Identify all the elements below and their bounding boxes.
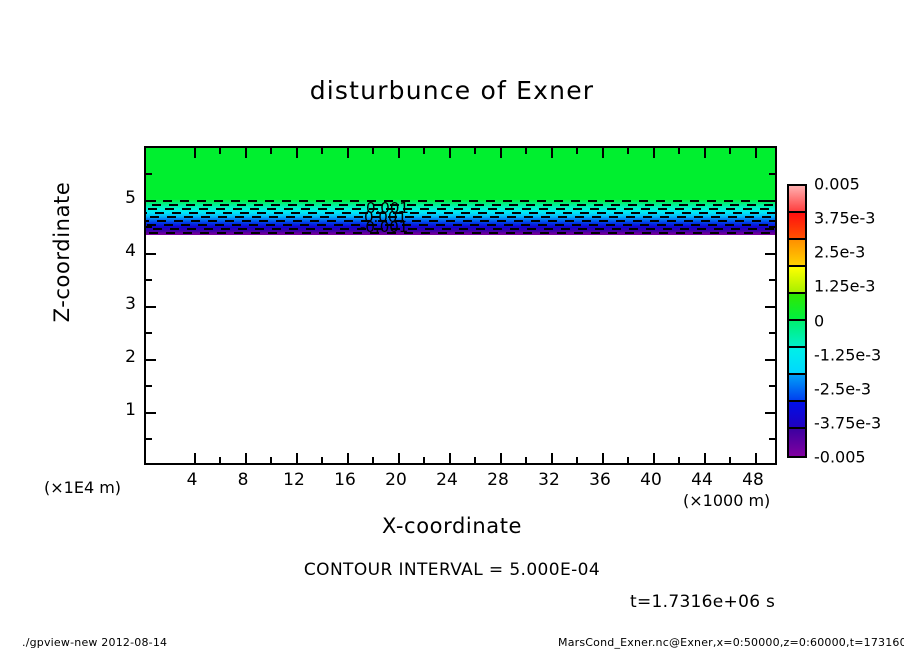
colorbar-tick-label: 1.25e-3 (814, 277, 875, 296)
x-tick-top-major (296, 148, 298, 158)
x-axis-unit-label: (×1000 m) (683, 491, 770, 510)
colorbar-tick-label: -2.5e-3 (814, 380, 871, 399)
x-tick-top-minor (219, 148, 221, 154)
x-tick-label: 12 (283, 470, 305, 490)
x-tick-label: 28 (487, 470, 509, 490)
x-tick-minor (678, 457, 680, 463)
x-tick-top-major (500, 148, 502, 158)
x-tick-label: 20 (385, 470, 407, 490)
x-tick-label: 8 (238, 470, 249, 490)
x-tick-label: 44 (691, 470, 713, 490)
y-tick-label: 1 (108, 400, 136, 420)
x-tick-major (449, 453, 451, 463)
y-tick-minor (146, 438, 152, 440)
y-tick-minor (146, 226, 152, 228)
footer-command-date: ./gpview-new 2012-08-14 (22, 636, 167, 649)
x-tick-top-minor (270, 148, 272, 154)
x-tick-major (194, 453, 196, 463)
y-tick-right-major (765, 200, 775, 202)
x-tick-major (347, 453, 349, 463)
x-tick-major (398, 453, 400, 463)
colorbar-tick-label: -0.005 (814, 448, 866, 467)
y-tick-major (146, 306, 156, 308)
x-tick-major (500, 453, 502, 463)
x-tick-top-major (449, 148, 451, 158)
x-tick-minor (525, 457, 527, 463)
x-tick-label: 32 (538, 470, 560, 490)
colorbar-band (789, 240, 805, 267)
y-tick-right-minor (769, 438, 775, 440)
x-tick-label: 24 (436, 470, 458, 490)
colorbar-band (789, 402, 805, 429)
x-tick-minor (372, 457, 374, 463)
x-tick-top-major (551, 148, 553, 158)
x-tick-top-minor (372, 148, 374, 154)
x-tick-label: 36 (589, 470, 611, 490)
y-tick-label: 3 (108, 294, 136, 314)
x-axis-title: X-coordinate (0, 514, 904, 538)
colorbar-band (789, 267, 805, 294)
x-tick-top-major (194, 148, 196, 158)
x-tick-minor (627, 457, 629, 463)
x-tick-major (296, 453, 298, 463)
x-tick-minor (423, 457, 425, 463)
y-tick-label: 5 (108, 188, 136, 208)
x-tick-minor (474, 457, 476, 463)
x-tick-top-major (755, 148, 757, 158)
colorbar-band (789, 186, 805, 213)
y-axis-title: Z-coordinate (50, 152, 74, 352)
page-title: disturbunce of Exner (0, 76, 904, 105)
y-tick-label: 4 (108, 241, 136, 261)
y-tick-major (146, 412, 156, 414)
colorbar-tick-label: 0.005 (814, 175, 860, 194)
x-tick-major (245, 453, 247, 463)
colorbar-band (789, 321, 805, 348)
x-tick-major (704, 453, 706, 463)
x-tick-major (551, 453, 553, 463)
y-tick-right-minor (769, 173, 775, 175)
x-tick-label: 16 (334, 470, 356, 490)
x-tick-top-minor (474, 148, 476, 154)
y-tick-right-major (765, 412, 775, 414)
x-tick-major (602, 453, 604, 463)
contour-line (146, 232, 775, 236)
y-tick-minor (146, 385, 152, 387)
x-tick-top-minor (525, 148, 527, 154)
colorbar-band (789, 375, 805, 402)
x-tick-top-major (347, 148, 349, 158)
contour-interval-annotation: CONTOUR INTERVAL = 5.000E-04 (0, 560, 904, 580)
x-tick-top-minor (678, 148, 680, 154)
plot-area: 0.001 0.001 -0.001 (144, 146, 777, 465)
contour-inline-label: -0.001 (360, 218, 408, 236)
x-tick-label: 4 (187, 470, 198, 490)
x-tick-major (755, 453, 757, 463)
colorbar-tick-label: -1.25e-3 (814, 346, 881, 365)
y-tick-right-major (765, 306, 775, 308)
y-tick-right-minor (769, 279, 775, 281)
colorbar-tick-label: 2.5e-3 (814, 243, 865, 262)
time-annotation: t=1.7316e+06 s (630, 592, 775, 612)
x-tick-label: 40 (640, 470, 662, 490)
colorbar-band (789, 294, 805, 321)
y-tick-right-minor (769, 385, 775, 387)
x-tick-minor (219, 457, 221, 463)
footer-source-info: MarsCond_Exner.nc@Exner,x=0:50000,z=0:60… (558, 636, 904, 649)
y-tick-right-major (765, 359, 775, 361)
x-tick-top-minor (729, 148, 731, 154)
x-tick-top-major (704, 148, 706, 158)
y-tick-major (146, 359, 156, 361)
colorbar-tick-label: -3.75e-3 (814, 414, 881, 433)
colorbar-tick-label: 3.75e-3 (814, 209, 875, 228)
x-tick-minor (729, 457, 731, 463)
contour-fill-field: 0.001 0.001 -0.001 (146, 148, 775, 463)
x-tick-minor (321, 457, 323, 463)
x-tick-minor (270, 457, 272, 463)
x-tick-top-minor (423, 148, 425, 154)
y-tick-right-minor (769, 226, 775, 228)
y-tick-label: 2 (108, 347, 136, 367)
colorbar-band (789, 213, 805, 240)
x-tick-top-minor (321, 148, 323, 154)
y-tick-minor (146, 279, 152, 281)
x-tick-top-major (398, 148, 400, 158)
x-tick-top-major (653, 148, 655, 158)
colorbar-tick-label: 0 (814, 312, 824, 331)
x-tick-top-major (245, 148, 247, 158)
uniform-green-region (146, 148, 775, 199)
x-tick-top-minor (576, 148, 578, 154)
y-tick-minor (146, 332, 152, 334)
y-tick-right-minor (769, 332, 775, 334)
x-tick-top-minor (627, 148, 629, 154)
x-tick-top-major (602, 148, 604, 158)
colorbar-band (789, 348, 805, 375)
x-tick-label: 48 (742, 470, 764, 490)
y-tick-right-major (765, 253, 775, 255)
x-tick-major (653, 453, 655, 463)
y-tick-major (146, 200, 156, 202)
colorbar (787, 184, 807, 458)
colorbar-band (789, 429, 805, 456)
y-axis-unit-label: (×1E4 m) (44, 478, 121, 497)
x-tick-minor (576, 457, 578, 463)
y-tick-minor (146, 173, 152, 175)
y-tick-major (146, 253, 156, 255)
